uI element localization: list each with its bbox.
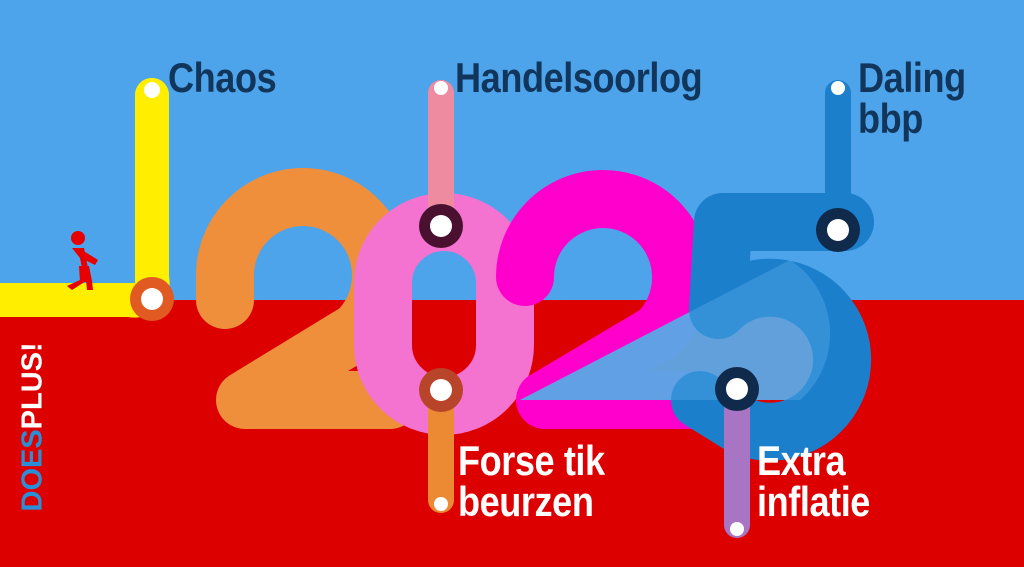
walking-person-icon [67, 231, 98, 290]
line-daling-bbp [831, 81, 845, 230]
line-extra-inflatie [730, 392, 744, 536]
brand-part-blue: DOES [17, 429, 49, 511]
line-handelsoorlog [434, 81, 448, 225]
line-handelsoorlog-endpoint [434, 81, 448, 95]
line-daling-bbp-endpoint [831, 81, 845, 95]
station-marker-forse-tik-beurzen[interactable] [419, 368, 463, 412]
station-marker-extra-inflatie[interactable] [715, 367, 759, 411]
line-extra-inflatie-endpoint [730, 522, 744, 536]
station-marker-handelsoorlog[interactable] [419, 204, 463, 248]
station-label-forse-tik-beurzen: Forse tik beurzen [458, 441, 605, 522]
line-forse-tik-endpoint [434, 497, 448, 511]
station-label-daling-bbp: Daling bbp [858, 58, 966, 139]
brand-watermark: DOESPLUS! [17, 362, 50, 512]
line-chaos-endpoint [144, 82, 160, 98]
infographic-canvas: Chaos Handelsoorlog Daling bbp Forse tik… [0, 0, 1024, 567]
station-marker-chaos[interactable] [130, 277, 174, 321]
station-label-extra-inflatie: Extra inflatie [757, 441, 870, 522]
station-marker-daling-bbp[interactable] [816, 208, 860, 252]
station-label-chaos: Chaos [168, 58, 276, 99]
station-label-handelsoorlog: Handelsoorlog [455, 58, 702, 99]
brand-part-white: PLUS! [17, 342, 49, 429]
